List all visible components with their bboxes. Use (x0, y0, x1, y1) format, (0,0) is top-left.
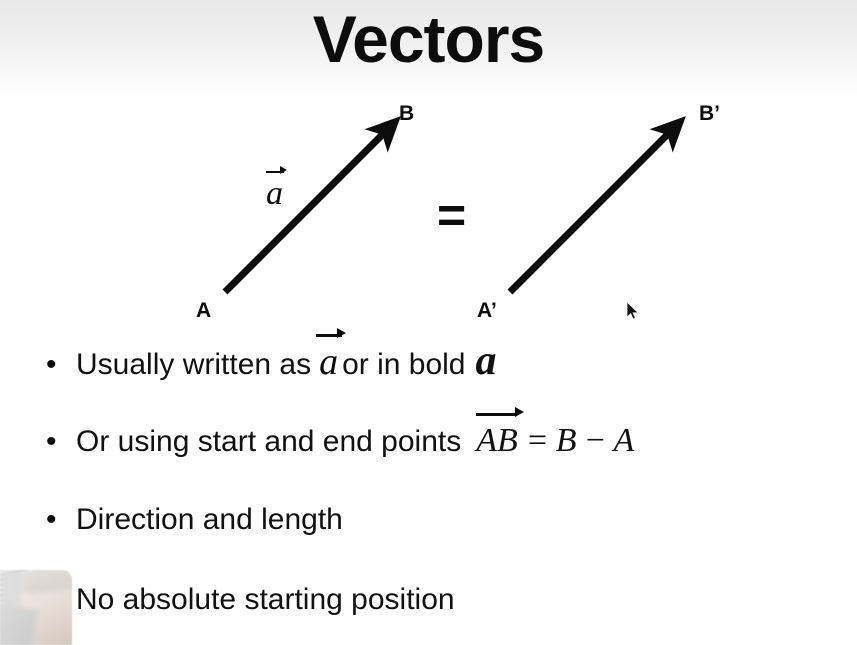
vector-a-glyph: a (319, 347, 338, 377)
equation-minus: − (577, 422, 614, 459)
vector-a-glyph: a (264, 168, 286, 211)
equation-term-a: A (613, 422, 634, 459)
vector-a-arrow (225, 131, 386, 292)
bullet-2-lead: Or using start and end points (76, 425, 461, 458)
bullet-1-lead: Usually written as (76, 348, 311, 381)
vector-a-label: a (264, 168, 286, 211)
bullet-text-3: Direction and length (76, 503, 343, 537)
bullet-marker: • (46, 427, 76, 457)
slide-canvas: Vectors A B A’ B’ = a • Usually written … (0, 0, 857, 645)
vector-ab-glyph: AB (476, 422, 518, 459)
bullet-marker: • (46, 350, 76, 380)
bullet-item-3: • Direction and length (46, 503, 846, 537)
overarrow-head-icon (337, 328, 346, 338)
webcam-video-thumbnail[interactable] (0, 570, 72, 645)
inline-vector-a: a (311, 347, 342, 377)
bullet-item-4: No absolute starting position (46, 583, 846, 617)
vector-a-prime-arrow (510, 131, 671, 292)
point-label-a-prime: A’ (477, 300, 497, 321)
bullet-1-middle: or in bold (342, 348, 465, 381)
bullet-marker: • (46, 505, 76, 535)
equation-term-b: B (556, 422, 577, 459)
point-label-b: B (399, 103, 414, 124)
inline-bold-a: a (466, 338, 497, 384)
overarrow-bar (476, 413, 517, 416)
bullet-text-4: No absolute starting position (76, 583, 455, 617)
overarrow-head-icon (280, 166, 287, 174)
cursor-arrow-icon (627, 302, 638, 319)
overarrow-head-icon (515, 407, 524, 417)
mouse-cursor (626, 301, 640, 321)
equals-symbol: = (437, 190, 466, 240)
equal-vectors-diagram (0, 90, 857, 335)
webcam-blur-overlay (0, 570, 72, 645)
equation-equals: = (519, 422, 556, 459)
vector-arrows-svg (0, 90, 857, 335)
bullet-text-1: Usually written asaor in bolda (76, 344, 497, 382)
vector-ab-equation: AB=B−A (461, 422, 634, 459)
bullet-text-2: Or using start and end pointsAB=B−A (76, 424, 634, 459)
inline-vector-ab: AB (475, 424, 519, 458)
point-label-b-prime: B’ (699, 103, 720, 124)
bullet-item-2: • Or using start and end pointsAB=B−A (46, 424, 846, 459)
page-title: Vectors (0, 2, 857, 76)
bullet-item-1: • Usually written asaor in bolda (46, 344, 846, 382)
point-label-a: A (196, 300, 211, 321)
